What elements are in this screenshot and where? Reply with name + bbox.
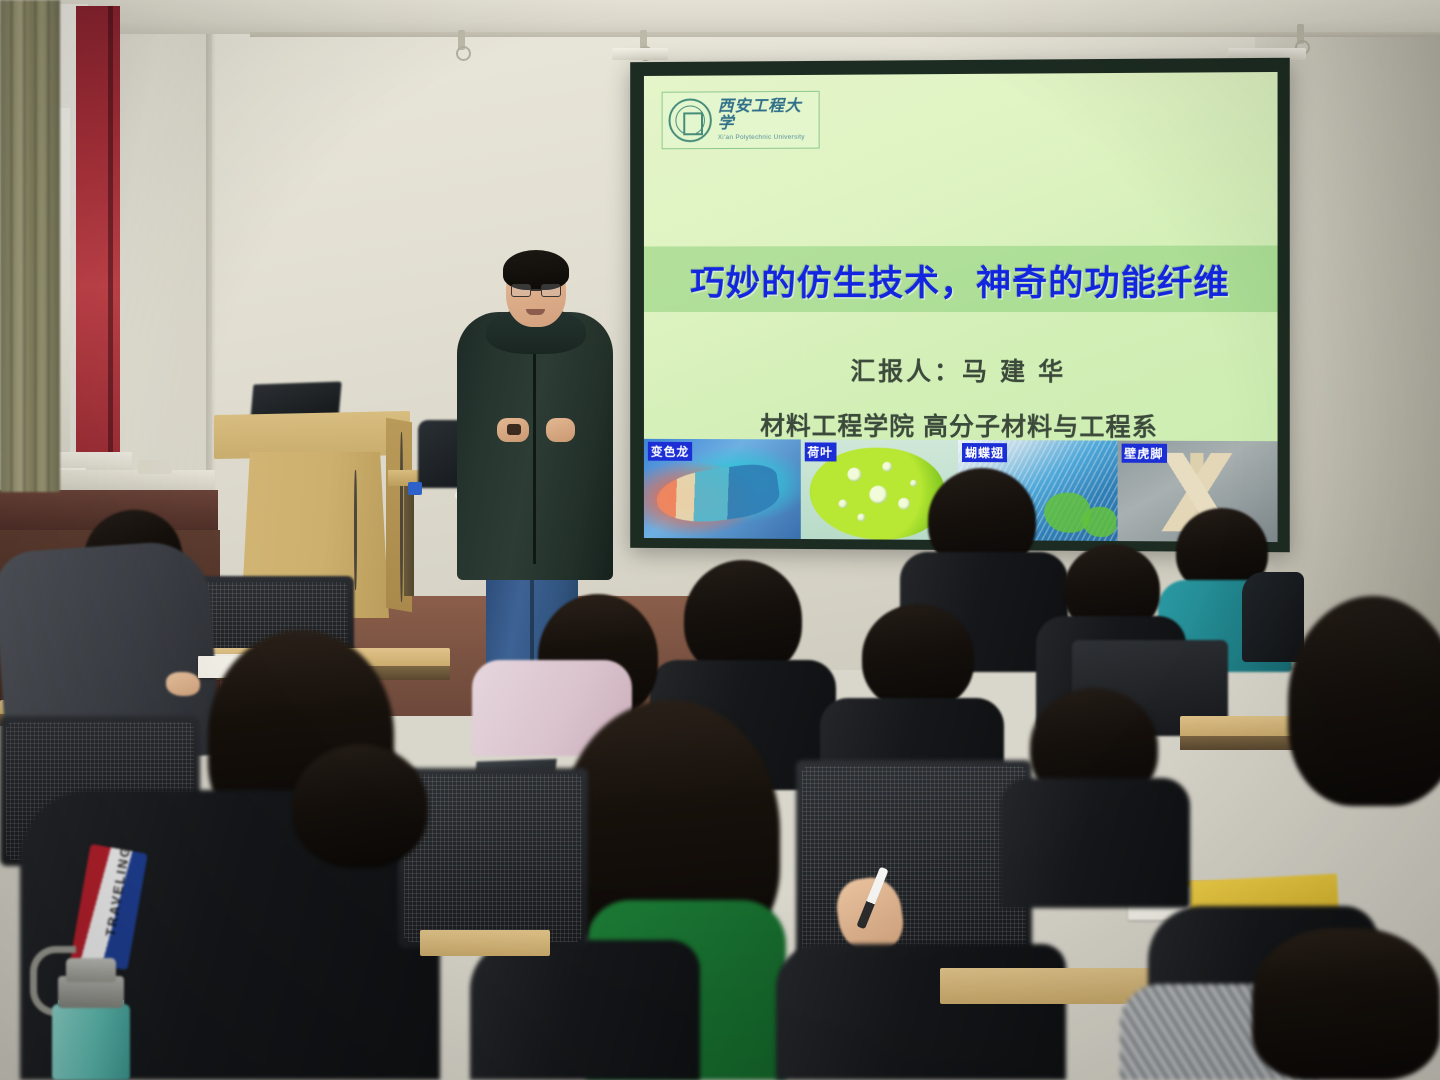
podium-cable (400, 432, 403, 602)
audience-scarf-dark (1242, 572, 1304, 662)
strip-cell-chameleon: 变色龙 (644, 439, 800, 539)
strip-label-chameleon: 变色龙 (648, 442, 692, 461)
desk-foreground-center (420, 930, 550, 956)
window-red-trim-line (108, 6, 113, 458)
audience-head-right-fg (1288, 596, 1440, 806)
presenter-mouth (526, 309, 545, 315)
water-bottle (52, 1004, 130, 1080)
strip-label-butterfly-wing: 蝴蝶翅 (962, 443, 1007, 462)
screen-rail-left (612, 48, 668, 60)
strip-label-gecko-foot: 壁虎脚 (1121, 444, 1166, 463)
logo-english-name: Xi'an Polytechnic University (718, 134, 813, 141)
university-logo: 西安工程大学 Xi'an Polytechnic University (662, 91, 820, 149)
slide-presenter-line: 汇报人：马 建 华 (644, 352, 1278, 389)
presentation-clicker (507, 424, 521, 435)
podium-top (214, 411, 410, 459)
side-desk-leg (404, 486, 414, 596)
audience-torso-extra-1 (1000, 778, 1190, 908)
chair-foreground-right-mesh (802, 766, 1026, 960)
ceiling (0, 0, 1440, 34)
chair-foreground-center-mesh (404, 774, 582, 942)
jacket-stripe-text: TRAVELING (101, 844, 135, 946)
audience-head-mid-right (862, 604, 974, 710)
ceiling-hook-mid (640, 30, 647, 50)
blue-desk-object (408, 482, 422, 495)
sill-small-object (138, 460, 172, 474)
window-curtain (0, 0, 60, 492)
ceiling-hook-left (458, 30, 465, 50)
logo-chinese-name: 西安工程大学 (718, 99, 813, 133)
presenter-hand-right (546, 418, 575, 442)
university-seal-icon (669, 98, 712, 142)
presenter-glasses-icon (511, 284, 561, 297)
audience-head-extra-2 (292, 744, 428, 868)
presenter-coat-zipper (533, 352, 536, 564)
water-bottle-cap (66, 958, 116, 982)
strip-label-lotus-leaf: 荷叶 (804, 442, 836, 461)
audience-torso-writer (776, 944, 1066, 1080)
lecture-room-photo: 西安工程大学 Xi'an Polytechnic University 巧妙的仿… (0, 0, 1440, 1080)
audience-torso-foreground-center (470, 940, 700, 1080)
podium-cable-2 (354, 470, 357, 590)
note-taker-hand (166, 672, 200, 696)
desk-foreground-right (940, 968, 1160, 1004)
window-red-trim (76, 6, 120, 458)
slide-title: 巧妙的仿生技术，神奇的功能纤维 (644, 250, 1278, 311)
ceiling-hook-right (1297, 24, 1304, 44)
ceiling-edge (250, 32, 1440, 37)
audience-head-right-lower (1252, 928, 1440, 1080)
